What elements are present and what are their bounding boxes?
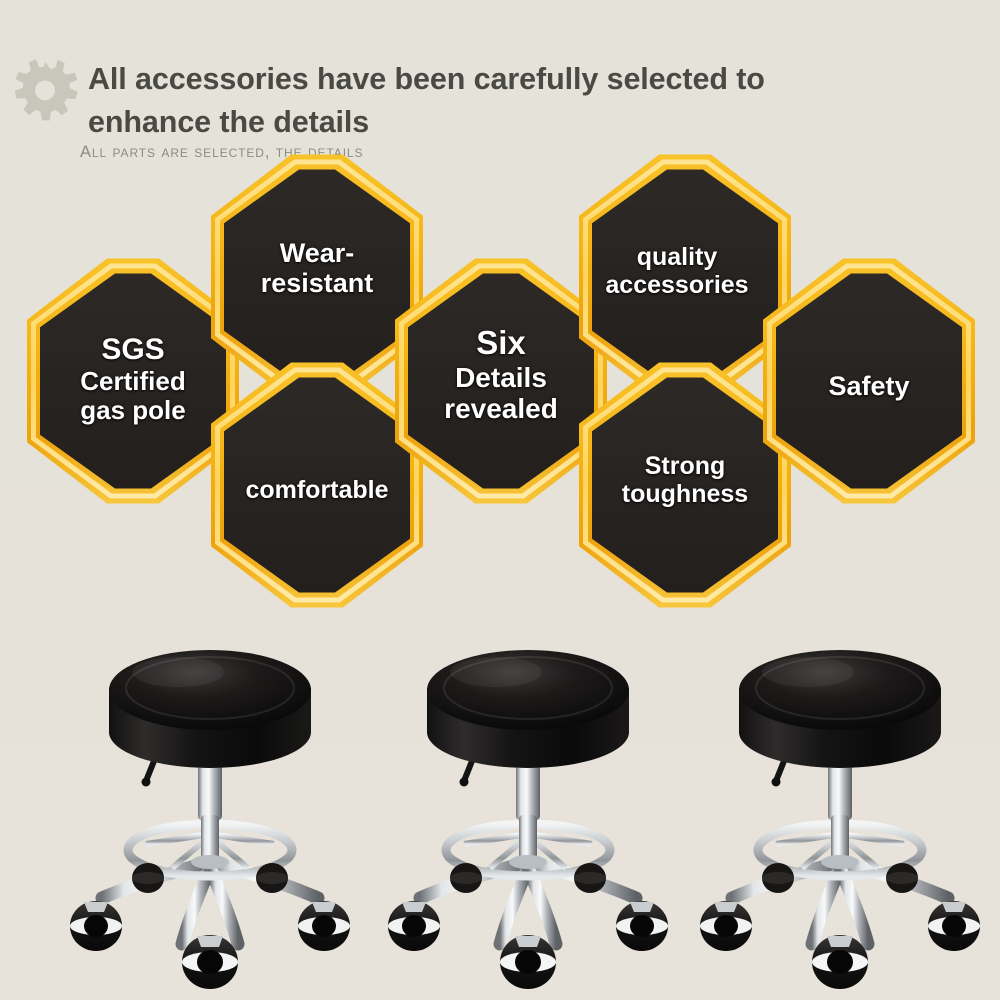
hex-safety[interactable] [763, 259, 975, 504]
adjustable-swivel-stool[interactable] [378, 610, 678, 1000]
adjustable-swivel-stool[interactable] [60, 610, 360, 1000]
hex-strong-toughness[interactable] [579, 363, 791, 608]
infographic-canvas: All accessories have been carefully sele… [0, 0, 1000, 1000]
hex-sgs-certified-gas-pole[interactable] [27, 259, 239, 504]
feature-honeycomb: SGSCertifiedgas poleWear-resistantcomfor… [0, 0, 1000, 620]
hex-six-details-revealed[interactable] [395, 259, 607, 504]
product-gallery [0, 610, 1000, 1000]
hex-comfortable[interactable] [211, 363, 423, 608]
adjustable-swivel-stool[interactable] [690, 610, 990, 1000]
